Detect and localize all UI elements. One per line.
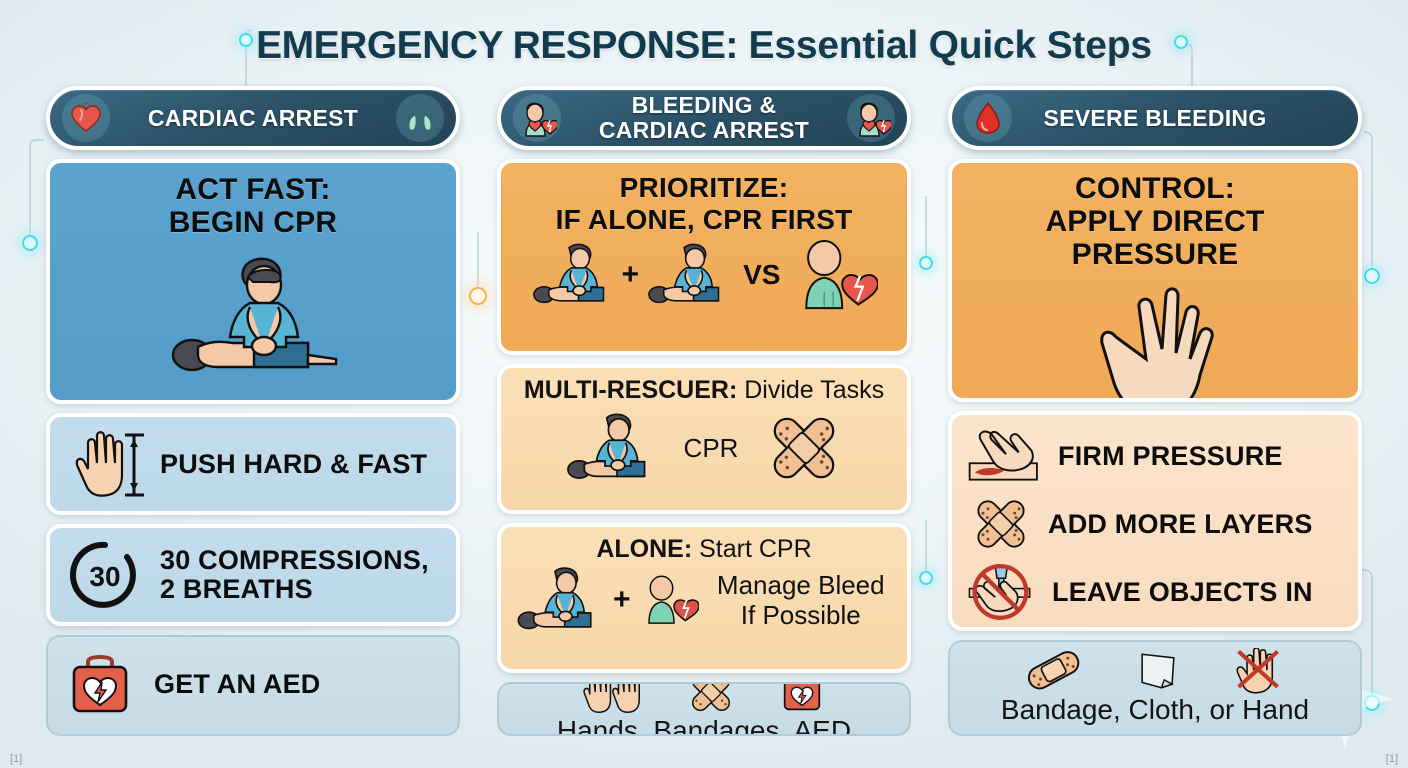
row-multi-rescuer: MULTI-RESCUER: Divide Tasks xyxy=(497,364,911,514)
crossed-bandages-icon xyxy=(684,682,738,717)
aed-kit-icon xyxy=(64,651,136,719)
hero-headline: ACT FAST: BEGIN CPR xyxy=(169,173,338,239)
hero-panel-begin-cpr: ACT FAST: BEGIN CPR xyxy=(46,159,460,404)
cpr-compression-icon xyxy=(62,239,444,394)
manage-bleed-label: Manage Bleed If Possible xyxy=(707,570,895,630)
cpr-sub-label: CPR xyxy=(684,433,739,463)
footer-hands-bandages-aed: Hands, Bandages, AED xyxy=(497,682,911,736)
alone-label-rest: Start CPR xyxy=(692,535,811,563)
no-remove-object-icon xyxy=(966,561,1040,623)
thirty-cycle-icon: 30 xyxy=(64,536,146,614)
row-firm-pressure: FIRM PRESSURE xyxy=(966,425,1344,487)
hand-depth-icon xyxy=(64,425,146,503)
hero-panel-apply-pressure: CONTROL: APPLY DIRECT PRESSURE xyxy=(948,159,1362,402)
row-label: PUSH HARD & FAST xyxy=(160,450,427,479)
corner-mark-left: [1] xyxy=(10,753,22,765)
column-header-label: SEVERE BLEEDING xyxy=(1012,106,1298,131)
row-push-hard-fast: PUSH HARD & FAST xyxy=(46,413,460,515)
row-label: FIRM PRESSURE xyxy=(1058,442,1283,471)
footer-bandage-cloth-hand: Bandage, Cloth, or Hand xyxy=(948,640,1362,736)
cpr-compression-icon xyxy=(562,411,660,485)
column-bleeding-and-cardiac-arrest: BLEEDING & CARDIAC ARREST PRIORITIZE: IF… xyxy=(497,86,911,736)
multi-rescuer-label-bold: MULTI-RESCUER: xyxy=(524,376,737,404)
heart-icon xyxy=(62,94,110,142)
person-bleeding-heart-icon xyxy=(513,94,561,142)
person-broken-heart-icon xyxy=(792,240,878,310)
footer-get-an-aed: GET AN AED xyxy=(46,635,460,736)
footer-label: Hands, Bandages, AED xyxy=(557,715,851,736)
column-header-label: BLEEDING & CARDIAC ARREST xyxy=(561,93,847,143)
row-leave-objects-in: LEAVE OBJECTS IN xyxy=(966,561,1344,623)
no-hand-icon xyxy=(1233,648,1285,694)
multi-rescuer-label-rest: Divide Tasks xyxy=(737,376,884,404)
crossed-bandages-icon xyxy=(966,493,1036,555)
footer-label: Bandage, Cloth, or Hand xyxy=(1001,694,1309,726)
severe-bleeding-steps: FIRM PRESSURE xyxy=(948,411,1362,631)
alone-label-bold: ALONE: xyxy=(596,535,692,563)
title-bar: EMERGENCY RESPONSE: Essential Quick Step… xyxy=(0,18,1408,74)
svg-text:30: 30 xyxy=(89,561,120,592)
person-broken-heart-icon xyxy=(639,573,699,627)
plus-glyph: + xyxy=(622,258,640,292)
cloth-icon xyxy=(1135,649,1181,693)
hero-headline: CONTROL: APPLY DIRECT PRESSURE xyxy=(964,172,1346,271)
bandage-icon xyxy=(1025,650,1083,692)
blood-drop-icon xyxy=(964,94,1012,142)
column-header-severe-bleeding[interactable]: SEVERE BLEEDING xyxy=(948,86,1362,150)
row-label: 30 COMPRESSIONS, 2 BREATHS xyxy=(160,546,429,604)
crossed-bandages-icon xyxy=(762,408,846,488)
row-add-more-layers: ADD MORE LAYERS xyxy=(966,493,1344,555)
footer-label: GET AN AED xyxy=(154,670,321,699)
person-bleeding-heart-icon xyxy=(847,94,895,142)
column-severe-bleeding: SEVERE BLEEDING CONTROL: APPLY DIRECT PR… xyxy=(948,86,1362,736)
row-label: LEAVE OBJECTS IN xyxy=(1052,578,1313,607)
alone-label: ALONE: Start CPR xyxy=(513,535,895,563)
plus-glyph: + xyxy=(613,583,631,617)
hand-pressing-wound-icon xyxy=(966,425,1046,487)
aed-kit-icon xyxy=(778,682,826,715)
multi-rescuer-label: MULTI-RESCUER: Divide Tasks xyxy=(513,376,895,404)
vs-glyph: VS xyxy=(743,259,780,291)
column-header-bleeding-cardiac[interactable]: BLEEDING & CARDIAC ARREST xyxy=(497,86,911,150)
page-title: EMERGENCY RESPONSE: Essential Quick Step… xyxy=(256,22,1152,70)
hero-panel-prioritize: PRIORITIZE: IF ALONE, CPR FIRST xyxy=(497,159,911,355)
column-header-cardiac-arrest[interactable]: CARDIAC ARREST xyxy=(46,86,460,150)
page-title-strong: EMERGENCY RESPONSE: xyxy=(256,24,738,67)
open-hand-icon xyxy=(964,271,1346,402)
row-30-compressions: 30 30 COMPRESSIONS, 2 BREATHS xyxy=(46,524,460,626)
column-cardiac-arrest: CARDIAC ARREST ACT FAST: BEGIN CPR xyxy=(46,86,460,736)
column-header-label: CARDIAC ARREST xyxy=(110,106,396,131)
lungs-icon xyxy=(396,94,444,142)
two-hands-icon xyxy=(582,682,644,714)
corner-mark-right: [1] xyxy=(1386,753,1398,765)
cpr-compression-icon xyxy=(645,241,731,309)
hero-headline: PRIORITIZE: IF ALONE, CPR FIRST xyxy=(556,172,853,236)
columns-board: CARDIAC ARREST ACT FAST: BEGIN CPR xyxy=(0,86,1408,736)
row-label: ADD MORE LAYERS xyxy=(1048,510,1313,539)
row-alone-start-cpr: ALONE: Start CPR + xyxy=(497,523,911,673)
cpr-compression-icon xyxy=(530,241,616,309)
page-title-rest: Essential Quick Steps xyxy=(738,24,1152,67)
cpr-compression-icon xyxy=(513,565,605,635)
